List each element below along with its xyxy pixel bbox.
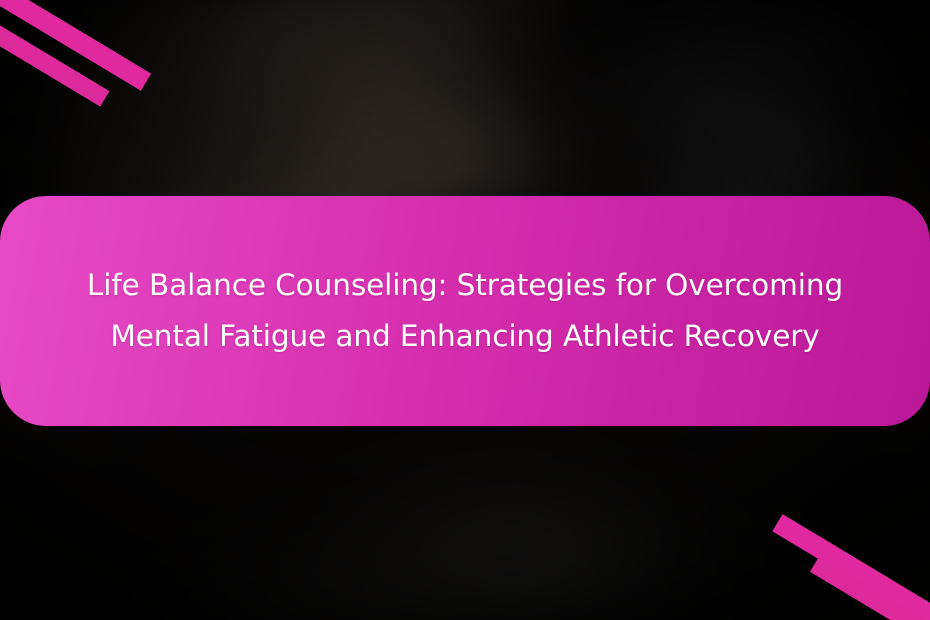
title-card: Life Balance Counseling: Strategies for … (0, 196, 930, 426)
page-title: Life Balance Counseling: Strategies for … (70, 260, 860, 362)
thumbnail-canvas: Life Balance Counseling: Strategies for … (0, 0, 930, 620)
